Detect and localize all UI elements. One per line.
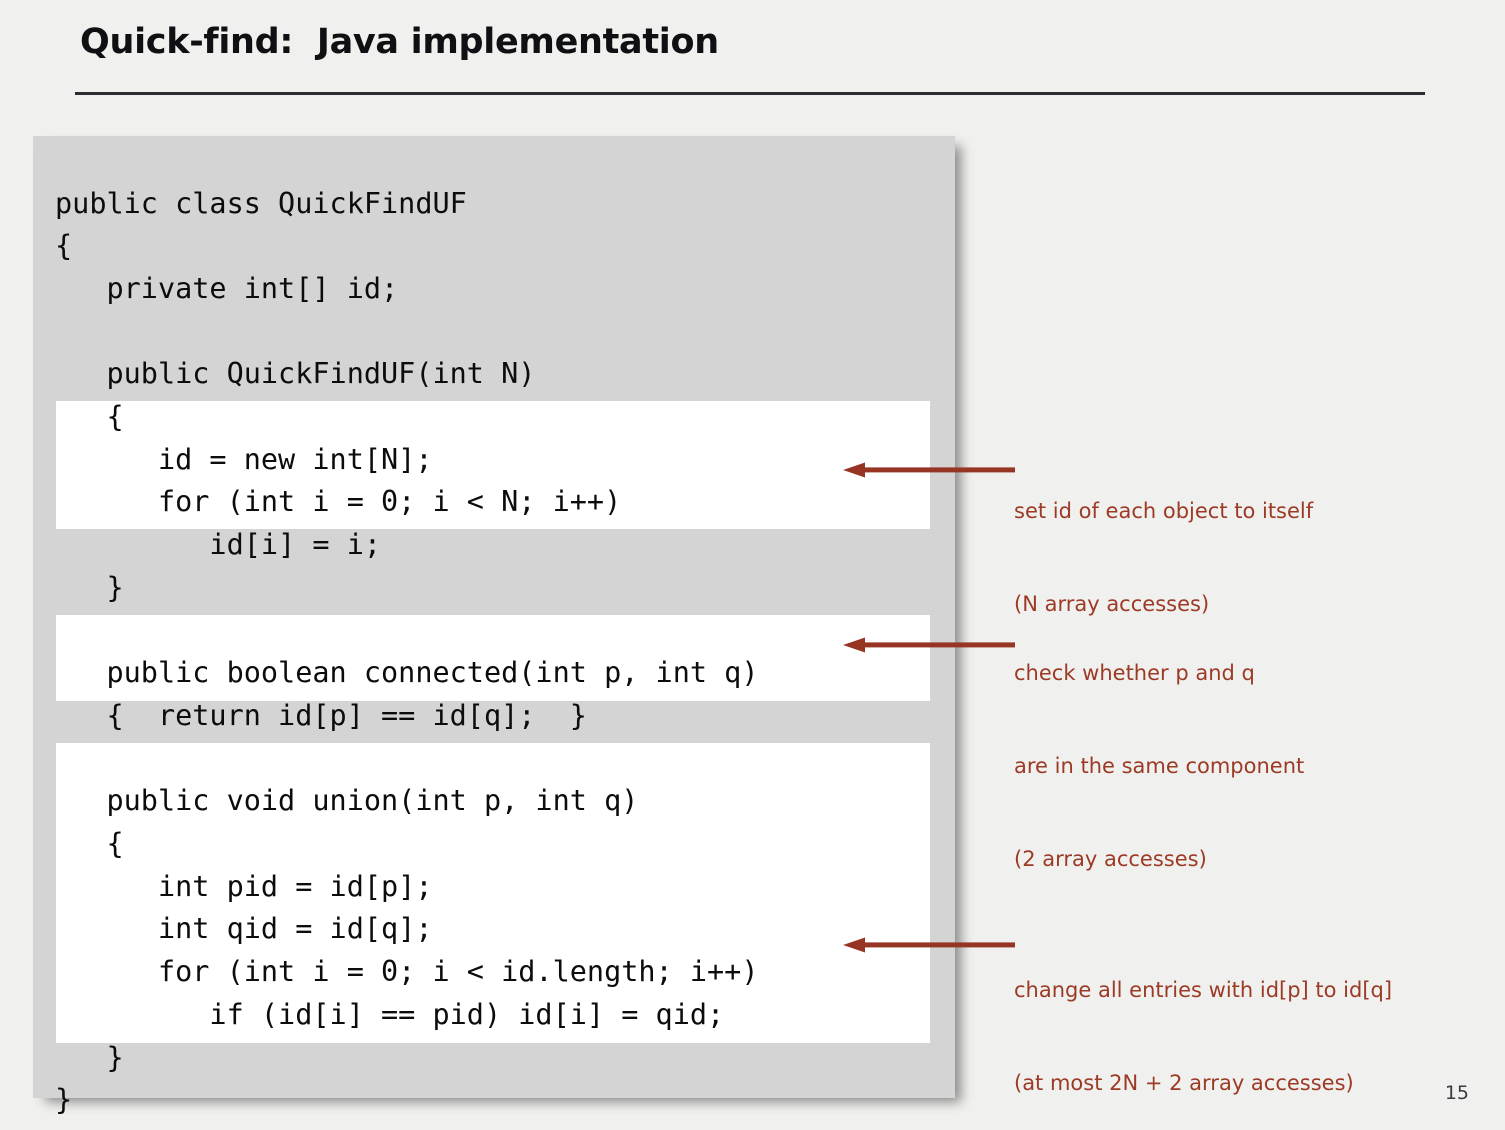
code-panel: public class QuickFindUF { private int[]… [33, 136, 955, 1098]
annotation-union: change all entries with id[p] to id[q] (… [1014, 913, 1392, 1130]
annotation-connected-line-3: (2 array accesses) [1014, 844, 1304, 875]
annotation-connected-line-2: are in the same component [1014, 751, 1304, 782]
arrow-to-connected [843, 636, 1015, 654]
arrow-to-constructor [843, 461, 1015, 479]
title-divider [75, 92, 1425, 95]
annotation-constructor-line-1: set id of each object to itself [1014, 496, 1313, 527]
highlight-connected-method [56, 615, 930, 701]
page-number: 15 [1445, 1082, 1469, 1104]
annotation-union-line-1: change all entries with id[p] to id[q] [1014, 975, 1392, 1006]
annotation-connected-line-1: check whether p and q [1014, 658, 1304, 689]
annotation-union-line-2: (at most 2N + 2 array accesses) [1014, 1068, 1392, 1099]
highlight-union-method [56, 743, 930, 1043]
annotation-connected: check whether p and q are in the same co… [1014, 596, 1304, 906]
arrow-to-union [843, 936, 1015, 954]
highlight-constructor-body [56, 401, 930, 529]
page-title: Quick-find: Java implementation [80, 22, 719, 62]
